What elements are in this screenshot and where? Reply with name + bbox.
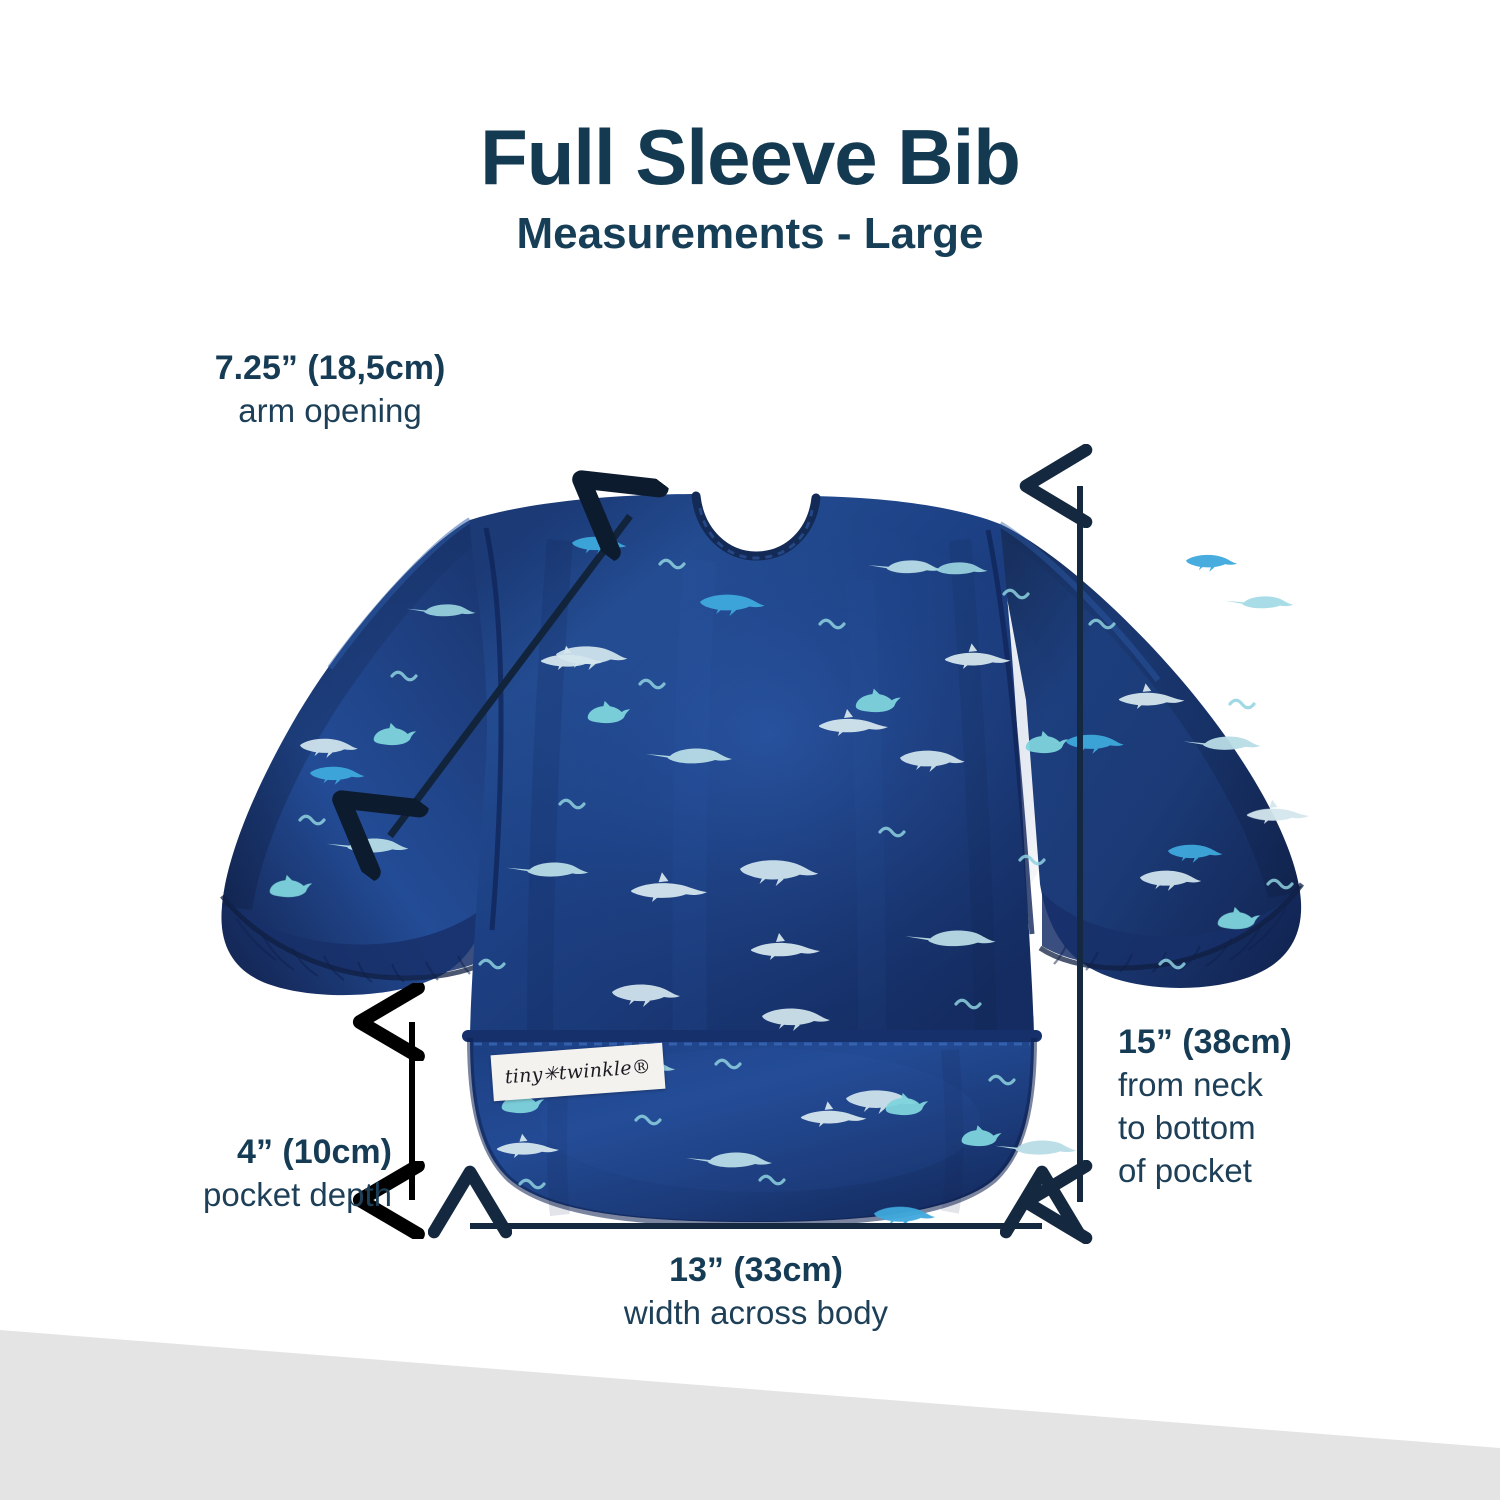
width-value: 13” (33cm) <box>470 1250 1042 1290</box>
pocket-depth-description: pocket depth <box>0 1176 392 1215</box>
neck-to-pocket-description-line-2: to bottom <box>1118 1109 1478 1148</box>
diagram-canvas: Full Sleeve Bib Measurements - Large <box>0 0 1500 1500</box>
callout-arm-opening: 7.25” (18,5cm) arm opening <box>0 348 660 431</box>
neck-to-pocket-description-line-3: of pocket <box>1118 1152 1478 1191</box>
callout-neck-to-pocket: 15” (38cm) from neck to bottom of pocket <box>1118 1022 1478 1191</box>
pocket-depth-value: 4” (10cm) <box>0 1132 392 1172</box>
callout-pocket-depth: 4” (10cm) pocket depth <box>0 1132 392 1215</box>
neck-to-pocket-value: 15” (38cm) <box>1118 1022 1478 1062</box>
arm-opening-description: arm opening <box>0 392 660 431</box>
brand-label-text: tiny✳twinkle® <box>504 1056 652 1089</box>
width-description: width across body <box>470 1294 1042 1333</box>
bib-body <box>470 494 1070 1040</box>
arm-opening-value: 7.25” (18,5cm) <box>0 348 660 388</box>
callout-width-across-body: 13” (33cm) width across body <box>470 1250 1042 1333</box>
neck-to-pocket-description-line-1: from neck <box>1118 1066 1478 1105</box>
